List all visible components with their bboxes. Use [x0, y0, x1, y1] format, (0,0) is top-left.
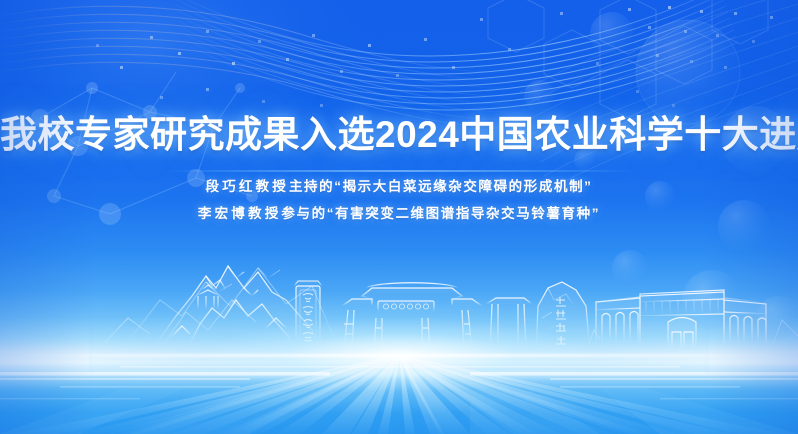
stone-stele [294, 281, 322, 352]
wave-lines-cool [170, 0, 738, 110]
ground-panels [0, 386, 798, 434]
subtitle-group: 段巧红教授主持的“揭示大白菜远缘杂交障碍的形成机制” 李宏博教授参与的“有害突变… [0, 174, 798, 227]
stele-inscription [303, 294, 313, 342]
particle-dots [96, 6, 773, 107]
banner-image: 我校专家研究成果入选2024中国农业科学十大进展 段巧红教授主持的“揭示大白菜远… [0, 0, 798, 434]
ridge-pavilion [196, 285, 220, 310]
subtitle-2-lead: 李宏博教授 [198, 206, 282, 221]
mountain-range-left [96, 268, 340, 352]
banner-text-block: 我校专家研究成果入选2024中国农业科学十大进展 段巧红教授主持的“揭示大白菜远… [0, 112, 798, 227]
archway-plaque-glyphs [383, 304, 428, 309]
paifang-archway [340, 283, 532, 352]
subtitle-1-rest: 主持的“揭示大白菜远缘杂交障碍的形成机制” [289, 179, 593, 194]
subtitle-line-1: 段巧红教授主持的“揭示大白菜远缘杂交障碍的形成机制” [0, 174, 798, 200]
campus-building [594, 290, 768, 352]
subtitle-2-rest: 参与的“有害突变二维图谱指导杂交马铃薯育种” [281, 206, 600, 221]
subtitle-line-2: 李宏博教授参与的“有害突变二维图谱指导杂交马铃薯育种” [0, 201, 798, 227]
ray-bundle [14, 356, 782, 434]
inscribed-rock [536, 282, 590, 352]
mountain-range-right [586, 320, 798, 352]
horizon-bloom-secondary [0, 370, 798, 376]
wave-lines-warm [0, 6, 534, 128]
hexagon-outlines [488, 0, 768, 118]
mountain-mount-tai [150, 266, 322, 352]
rock-inscription-glyphs [556, 297, 566, 344]
subtitle-1-lead: 段巧红教授 [205, 179, 289, 194]
horizon-line [0, 354, 798, 357]
page-title: 我校专家研究成果入选2024中国农业科学十大进展 [0, 112, 798, 158]
